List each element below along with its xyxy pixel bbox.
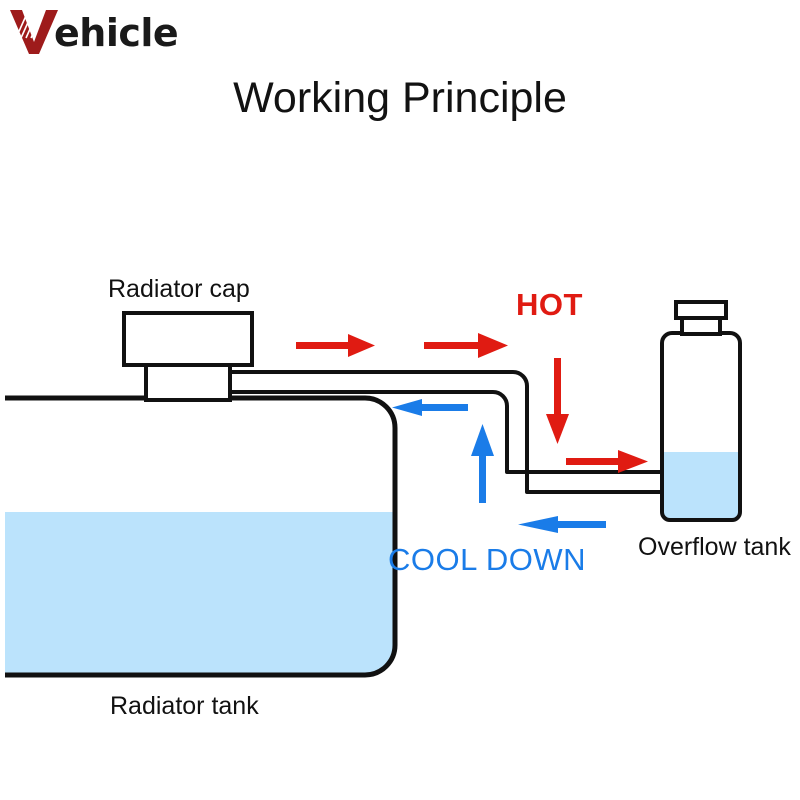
cool-flow-arrow-1 <box>392 399 468 416</box>
label-overflow-tank: Overflow tank <box>638 533 791 562</box>
overflow-coolant-fill <box>660 452 744 524</box>
label-radiator-tank: Radiator tank <box>110 692 259 721</box>
label-cool-down-flow: COOL DOWN <box>388 542 586 578</box>
hot-flow-arrow-2 <box>424 333 508 358</box>
overflow-tank-cap <box>676 302 726 318</box>
overflow-tank <box>660 302 744 524</box>
label-hot-flow: HOT <box>516 287 583 323</box>
coolant-system-schematic <box>0 0 800 800</box>
cool-flow-arrows <box>392 399 606 533</box>
radiator-cap <box>124 313 252 400</box>
label-radiator-cap: Radiator cap <box>108 275 250 304</box>
radiator-tank <box>0 398 400 682</box>
radiator-cap-neck <box>146 365 230 400</box>
diagram-canvas: ehicle Working Principle <box>0 0 800 800</box>
cool-flow-arrow-3 <box>518 516 606 533</box>
hot-flow-arrow-3 <box>546 358 569 444</box>
hot-flow-arrow-1 <box>296 334 375 357</box>
cool-flow-arrow-2 <box>471 424 494 503</box>
radiator-coolant-fill <box>0 512 400 682</box>
hot-flow-arrow-4 <box>566 450 648 473</box>
radiator-cap-body <box>124 313 252 365</box>
hose <box>230 372 662 492</box>
hot-flow-arrows <box>296 333 648 473</box>
